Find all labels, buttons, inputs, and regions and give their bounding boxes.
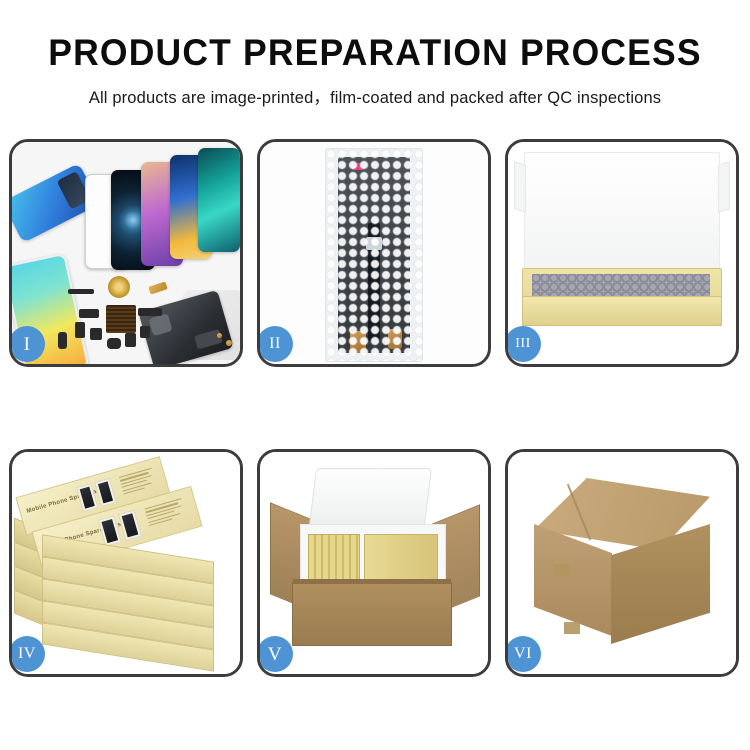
step-5-image bbox=[260, 452, 488, 674]
bubble-texture bbox=[326, 149, 422, 361]
sensor-part bbox=[140, 326, 150, 338]
small-module-part bbox=[79, 309, 99, 318]
process-step-3[interactable]: III bbox=[505, 139, 739, 367]
ribbon-part bbox=[138, 308, 162, 316]
page-title: PRODUCT PREPARATION PROCESS bbox=[15, 34, 735, 73]
process-step-1[interactable]: I bbox=[9, 139, 243, 367]
carton-left-face bbox=[534, 524, 612, 636]
speaker-part bbox=[90, 328, 102, 340]
vibrator-part bbox=[125, 333, 136, 347]
carton-tape-upper bbox=[554, 564, 570, 576]
page-header: PRODUCT PREPARATION PROCESS All products… bbox=[0, 0, 750, 108]
page-subtitle: All products are image-printed，film-coat… bbox=[0, 84, 750, 108]
bubble-wrap-bag bbox=[325, 148, 423, 362]
step-2-image bbox=[260, 142, 488, 364]
process-step-5[interactable]: V bbox=[257, 449, 491, 677]
carton-tape-lower bbox=[564, 622, 580, 634]
gold-connector-part bbox=[148, 281, 168, 294]
step-badge-3: III bbox=[505, 326, 541, 362]
process-step-2[interactable]: II bbox=[257, 139, 491, 367]
flex-cable-part bbox=[68, 289, 94, 294]
gold-coil-part bbox=[108, 276, 130, 298]
box-screen-image bbox=[94, 478, 117, 507]
box-label-lines bbox=[144, 497, 190, 528]
box-screen-image bbox=[98, 515, 122, 547]
box-screen-image bbox=[118, 509, 142, 541]
carton-front-panel bbox=[292, 582, 452, 646]
packed-boxes-right bbox=[364, 534, 438, 582]
box-label-lines bbox=[119, 467, 161, 497]
screw-part bbox=[226, 340, 232, 346]
step-badge-6: VI bbox=[505, 636, 541, 672]
process-step-6[interactable]: VI bbox=[505, 449, 739, 677]
camera-part bbox=[75, 322, 85, 338]
white-box-lid bbox=[524, 152, 720, 276]
teal-display-screen bbox=[198, 148, 240, 252]
step-badge-4: IV bbox=[9, 636, 45, 672]
chip-array-part bbox=[106, 305, 136, 333]
yellow-box-front bbox=[522, 296, 722, 326]
step-badge-5: V bbox=[257, 636, 293, 672]
step-1-image bbox=[12, 142, 240, 364]
step-badge-1: I bbox=[9, 326, 45, 362]
step-4-image: Mobile Phone Spare Parts Mobile Phone Sp… bbox=[12, 452, 240, 674]
step-3-image bbox=[508, 142, 736, 364]
step-6-image bbox=[508, 452, 736, 674]
packed-boxes-left bbox=[308, 534, 360, 582]
page-root: PRODUCT PREPARATION PROCESS All products… bbox=[0, 0, 750, 750]
button-part bbox=[107, 338, 121, 349]
sim-tray-part bbox=[58, 332, 67, 349]
process-step-grid: I II bbox=[9, 139, 741, 677]
process-step-4[interactable]: Mobile Phone Spare Parts Mobile Phone Sp… bbox=[9, 449, 243, 677]
screw-part bbox=[217, 333, 222, 338]
step-badge-2: II bbox=[257, 326, 293, 362]
